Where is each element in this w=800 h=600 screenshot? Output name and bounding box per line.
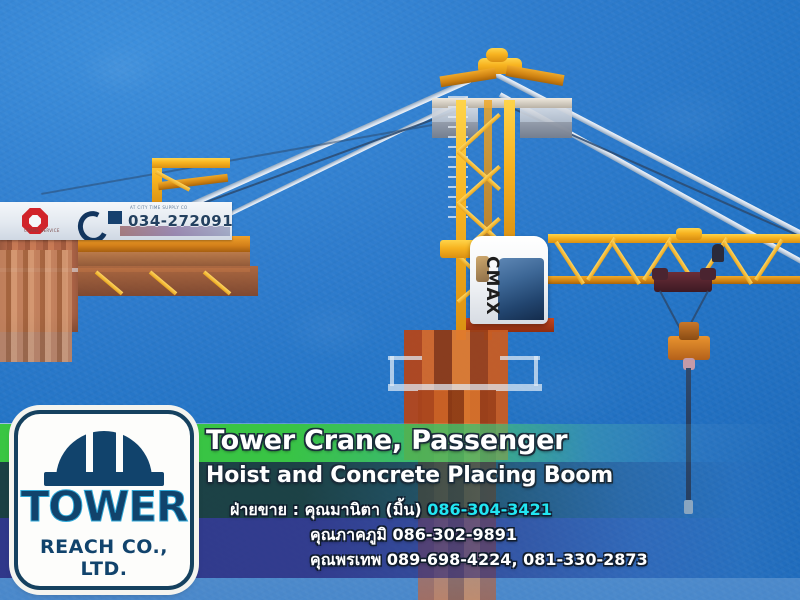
- contact-line-2: คุณภาคภูมิ 086-302-9891: [310, 523, 517, 548]
- contact-line-1: ฝ่ายขาย : คุณมานิตา (มิ้น) 086-304-3421: [230, 498, 552, 523]
- contact-phone-3[interactable]: 089-698-4224, 081-330-2873: [387, 550, 648, 569]
- mast-head-panel-right-2: [520, 122, 572, 138]
- operator-cabin: CMAX: [470, 236, 548, 324]
- banner-phone-number: 034-272091: [128, 212, 232, 230]
- screenshot-root: AT CITY TIME SUPPLY CO 034-272091 CRANE …: [0, 0, 800, 600]
- contact-label-1: ฝ่ายขาย : คุณมานิตา (มิ้น): [230, 500, 422, 519]
- counterjib-jibarm: [152, 158, 230, 168]
- cabin-main-window: [498, 258, 544, 320]
- banner-subhead: Hoist and Concrete Placing Boom: [206, 463, 613, 488]
- blue-block-logo-icon: [108, 211, 122, 224]
- logo-subtitle: REACH CO., LTD.: [18, 536, 190, 580]
- blue-c-logo-icon: [74, 207, 112, 240]
- cabin-brand-label: CMAX: [482, 256, 502, 316]
- company-logo-card[interactable]: TOWER REACH CO., LTD.: [14, 410, 194, 590]
- counterweight-rust-column: [0, 250, 72, 362]
- contact-label-2: คุณภาคภูมิ: [310, 525, 387, 544]
- banner-micro-text-top: AT CITY TIME SUPPLY CO: [130, 205, 188, 210]
- mast-apex-knuckle: [486, 48, 508, 62]
- mast-leg-left: [456, 100, 466, 340]
- contact-phone-1[interactable]: 086-304-3421: [427, 500, 552, 519]
- trolley-roller-right: [700, 268, 716, 280]
- mast-leg-right: [504, 100, 515, 250]
- banner-headline: Tower Crane, Passenger: [206, 425, 567, 456]
- contact-label-3: คุณพรเทพ: [310, 550, 381, 569]
- jib-anchor-plate: [676, 228, 702, 240]
- mast-rail-post-left: [390, 356, 394, 386]
- logo-title: TOWER: [18, 486, 190, 528]
- hook-block-top: [679, 322, 699, 340]
- jib-worker-silhouette: [712, 244, 724, 262]
- banner-micro-text-bottom: CRANE SERVICE: [24, 228, 60, 233]
- trolley-roller-left: [652, 268, 668, 280]
- jib-top-chord: [548, 234, 800, 243]
- mast-rail-post-right: [534, 356, 538, 386]
- counterjib-advertising-banner: AT CITY TIME SUPPLY CO 034-272091 CRANE …: [0, 202, 232, 240]
- contact-phone-2[interactable]: 086-302-9891: [392, 525, 517, 544]
- contact-line-3: คุณพรเทพ 089-698-4224, 081-330-2873: [310, 548, 648, 573]
